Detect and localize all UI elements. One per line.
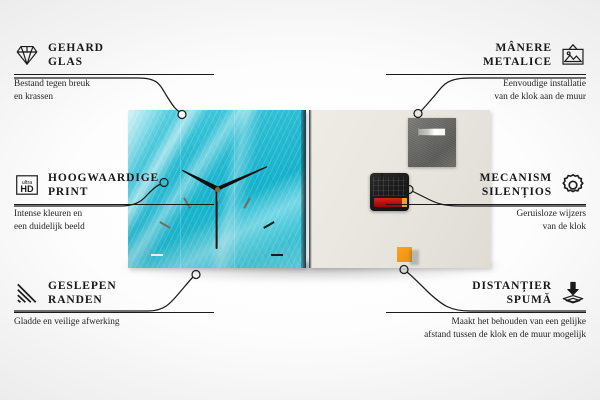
clock-minute-hand — [216, 165, 268, 191]
feature-subtitle: Eenvoudige installatie van de klok aan d… — [386, 78, 586, 103]
feature-distantier-spuma: DISTANȚIER SPUMĂ Maakt het behouden van … — [386, 276, 586, 341]
feature-header: ultra HD HOOGWAARDIGE PRINT — [14, 168, 214, 202]
foam-spacer — [397, 247, 412, 262]
feature-geslepen-randen: GESLEPEN RANDEN Gladde en veilige afwerk… — [14, 276, 214, 329]
feature-header: GEHARD GLAS — [14, 38, 214, 72]
feature-subtitle: Gladde en veilige afwerking — [14, 316, 214, 329]
feature-title: MÂNERE METALICE — [483, 41, 552, 69]
ultra-hd-icon: ultra HD — [14, 172, 40, 198]
clock-tick-2 — [263, 221, 274, 229]
clock-tick-9 — [151, 254, 163, 256]
panel-seam — [234, 110, 235, 268]
feature-title: GEHARD GLAS — [48, 41, 104, 69]
feature-divider — [14, 312, 214, 313]
gear-icon — [560, 172, 586, 198]
beveled-edges-icon — [14, 280, 40, 306]
feature-subtitle: Maakt het behouden van een gelijke afsta… — [386, 316, 586, 341]
clock-tick-12 — [216, 189, 218, 201]
diamond-icon — [14, 42, 40, 68]
feature-header: DISTANȚIER SPUMĂ — [386, 276, 586, 310]
foam-spacer-shadow — [410, 250, 419, 265]
hanger-plate — [408, 118, 456, 167]
feature-header: MÂNERE METALICE — [386, 38, 586, 72]
feature-header: MECANISM SILENȚIOS — [386, 168, 586, 202]
spacer-arrow-icon — [560, 280, 586, 306]
leader-dot-gehard-glas — [178, 111, 186, 119]
clock-tick-3 — [271, 254, 283, 256]
feature-divider — [386, 204, 586, 205]
clock-second-hand — [216, 189, 218, 249]
feature-subtitle: Intense kleuren en een duidelijk beeld — [14, 208, 214, 233]
glass-edge — [301, 110, 306, 268]
feature-divider — [386, 74, 586, 75]
picture-frame-hanger-icon — [560, 42, 586, 68]
feature-subtitle: Bestand tegen breuk en krassen — [14, 78, 214, 103]
feature-title: GESLEPEN RANDEN — [48, 279, 117, 307]
feature-divider — [386, 312, 586, 313]
feature-divider — [14, 74, 214, 75]
feature-divider — [14, 204, 214, 205]
feature-manere-metalice: MÂNERE METALICE Eenvoudige installatie v… — [386, 38, 586, 103]
feature-title: DISTANȚIER SPUMĂ — [472, 279, 552, 307]
feature-title: HOOGWAARDIGE PRINT — [48, 171, 159, 199]
feature-gehard-glas: GEHARD GLAS Bestand tegen breuk en krass… — [14, 38, 214, 103]
leader-dot-spacer — [400, 266, 408, 274]
feature-subtitle: Geruisloze wijzers van de klok — [386, 208, 586, 233]
svg-text:HD: HD — [20, 184, 34, 194]
feature-header: GESLEPEN RANDEN — [14, 276, 214, 310]
clock-center-hub — [215, 187, 220, 192]
feature-mecanism-silentios: MECANISM SILENȚIOS Geruisloze wijzers va… — [386, 168, 586, 233]
infographic-canvas: GEHARD GLAS Bestand tegen breuk en krass… — [0, 0, 600, 400]
feature-hoogwaardige-print: ultra HD HOOGWAARDIGE PRINT Intense kleu… — [14, 168, 214, 233]
hanger-slot — [418, 128, 446, 136]
feature-title: MECANISM SILENȚIOS — [480, 171, 552, 199]
leader-dot-hanger — [414, 110, 422, 118]
clock-tick-1 — [243, 197, 251, 208]
back-panel-edge — [309, 110, 312, 268]
